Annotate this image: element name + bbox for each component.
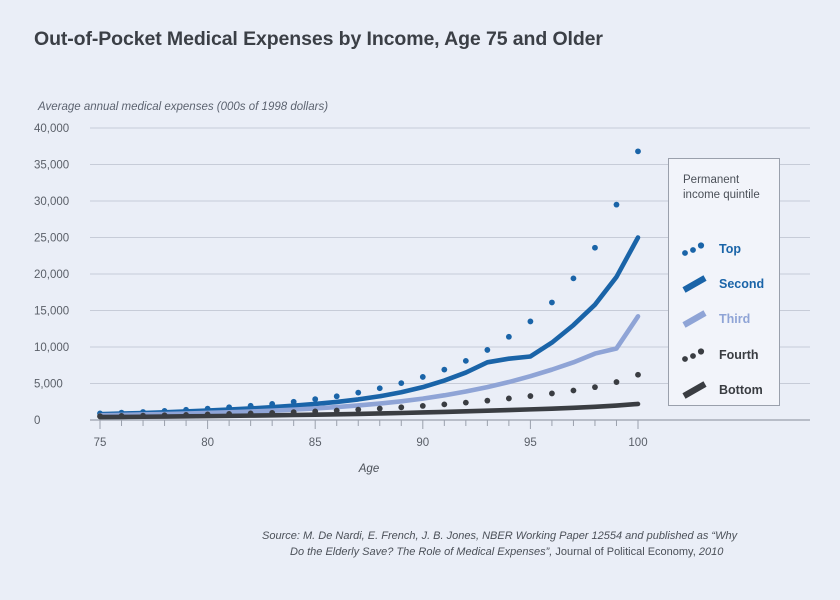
series-dots-top xyxy=(97,148,641,416)
x-axis-title: Age xyxy=(358,463,379,475)
x-axis-tick-label: 100 xyxy=(628,437,647,449)
legend-entry-top[interactable]: Top xyxy=(681,239,781,259)
series-data-point xyxy=(441,367,447,373)
legend-marker-bottom-icon xyxy=(681,381,711,399)
series-data-point xyxy=(334,393,340,399)
series-data-point xyxy=(506,396,512,402)
series-line-second xyxy=(100,238,638,415)
series-data-point xyxy=(484,398,490,404)
series-data-point xyxy=(528,319,534,325)
legend-title: Permanent income quintile xyxy=(683,173,769,202)
source-journal: Journal of Political Economy, xyxy=(552,546,695,558)
source-line-2-italic: Do the Elderly Save? The Role of Medical… xyxy=(290,546,552,558)
series-data-point xyxy=(484,347,490,353)
series-data-point xyxy=(312,396,318,402)
x-axis-tick-label: 95 xyxy=(524,437,537,449)
y-axis-tick-label: 5,000 xyxy=(34,379,63,391)
x-axis-tick-label: 80 xyxy=(201,437,214,449)
y-axis-tick-label: 0 xyxy=(34,415,40,427)
series-data-point xyxy=(463,400,469,406)
series-data-point xyxy=(549,391,555,397)
series-data-point xyxy=(463,358,469,364)
chart-container: Out-of-Pocket Medical Expenses by Income… xyxy=(0,0,840,600)
series-data-point xyxy=(441,401,447,407)
legend-label-top: Top xyxy=(719,242,741,256)
series-data-point xyxy=(420,403,426,409)
y-axis-tick-label: 10,000 xyxy=(34,342,69,354)
y-axis-tick-label: 40,000 xyxy=(34,123,69,135)
x-axis-tick-label: 90 xyxy=(416,437,429,449)
y-axis-tick-label: 15,000 xyxy=(34,306,69,318)
series-data-point xyxy=(614,202,620,208)
series-data-point xyxy=(377,406,383,412)
source-year: 2010 xyxy=(696,546,724,558)
legend-entry-third[interactable]: Third xyxy=(681,309,781,329)
x-axis-tick-label: 85 xyxy=(309,437,322,449)
series-data-point xyxy=(506,334,512,340)
legend-label-fourth: Fourth xyxy=(719,348,759,362)
source-note: Source: M. De Nardi, E. French, J. B. Jo… xyxy=(262,528,814,560)
series-data-point xyxy=(635,148,641,154)
x-axis-tick-label: 75 xyxy=(94,437,107,449)
y-axis-tick-label: 20,000 xyxy=(34,269,69,281)
legend-label-third: Third xyxy=(719,312,750,326)
chart-legend: Permanent income quintile TopSecondThird… xyxy=(668,158,780,406)
legend-label-bottom: Bottom xyxy=(719,383,763,397)
legend-marker-fourth-icon xyxy=(681,346,711,364)
series-data-point xyxy=(571,388,577,394)
legend-label-second: Second xyxy=(719,277,764,291)
series-data-point xyxy=(377,385,383,391)
source-prefix: Source: xyxy=(262,530,300,542)
y-axis-tick-label: 30,000 xyxy=(34,196,69,208)
series-data-point xyxy=(549,300,555,306)
series-data-point xyxy=(398,404,404,410)
legend-entry-fourth[interactable]: Fourth xyxy=(681,345,781,365)
legend-entry-bottom[interactable]: Bottom xyxy=(681,380,781,400)
y-axis-tick-label: 35,000 xyxy=(34,160,69,172)
series-data-point xyxy=(592,245,598,251)
series-data-point xyxy=(528,393,534,399)
series-line-third xyxy=(100,316,638,415)
legend-marker-third-icon xyxy=(681,310,711,328)
legend-entry-second[interactable]: Second xyxy=(681,274,781,294)
source-line-2: Do the Elderly Save? The Role of Medical… xyxy=(262,544,814,560)
series-data-point xyxy=(355,390,361,396)
series-data-point xyxy=(420,374,426,380)
series-data-point xyxy=(592,384,598,390)
series-data-point xyxy=(571,275,577,281)
legend-marker-second-icon xyxy=(681,275,711,293)
series-data-point xyxy=(614,379,620,385)
series-data-point xyxy=(398,380,404,386)
legend-marker-top-icon xyxy=(681,240,711,258)
series-data-point xyxy=(635,372,641,378)
source-line-1: M. De Nardi, E. French, J. B. Jones, NBE… xyxy=(303,530,737,542)
y-axis-tick-label: 25,000 xyxy=(34,233,69,245)
